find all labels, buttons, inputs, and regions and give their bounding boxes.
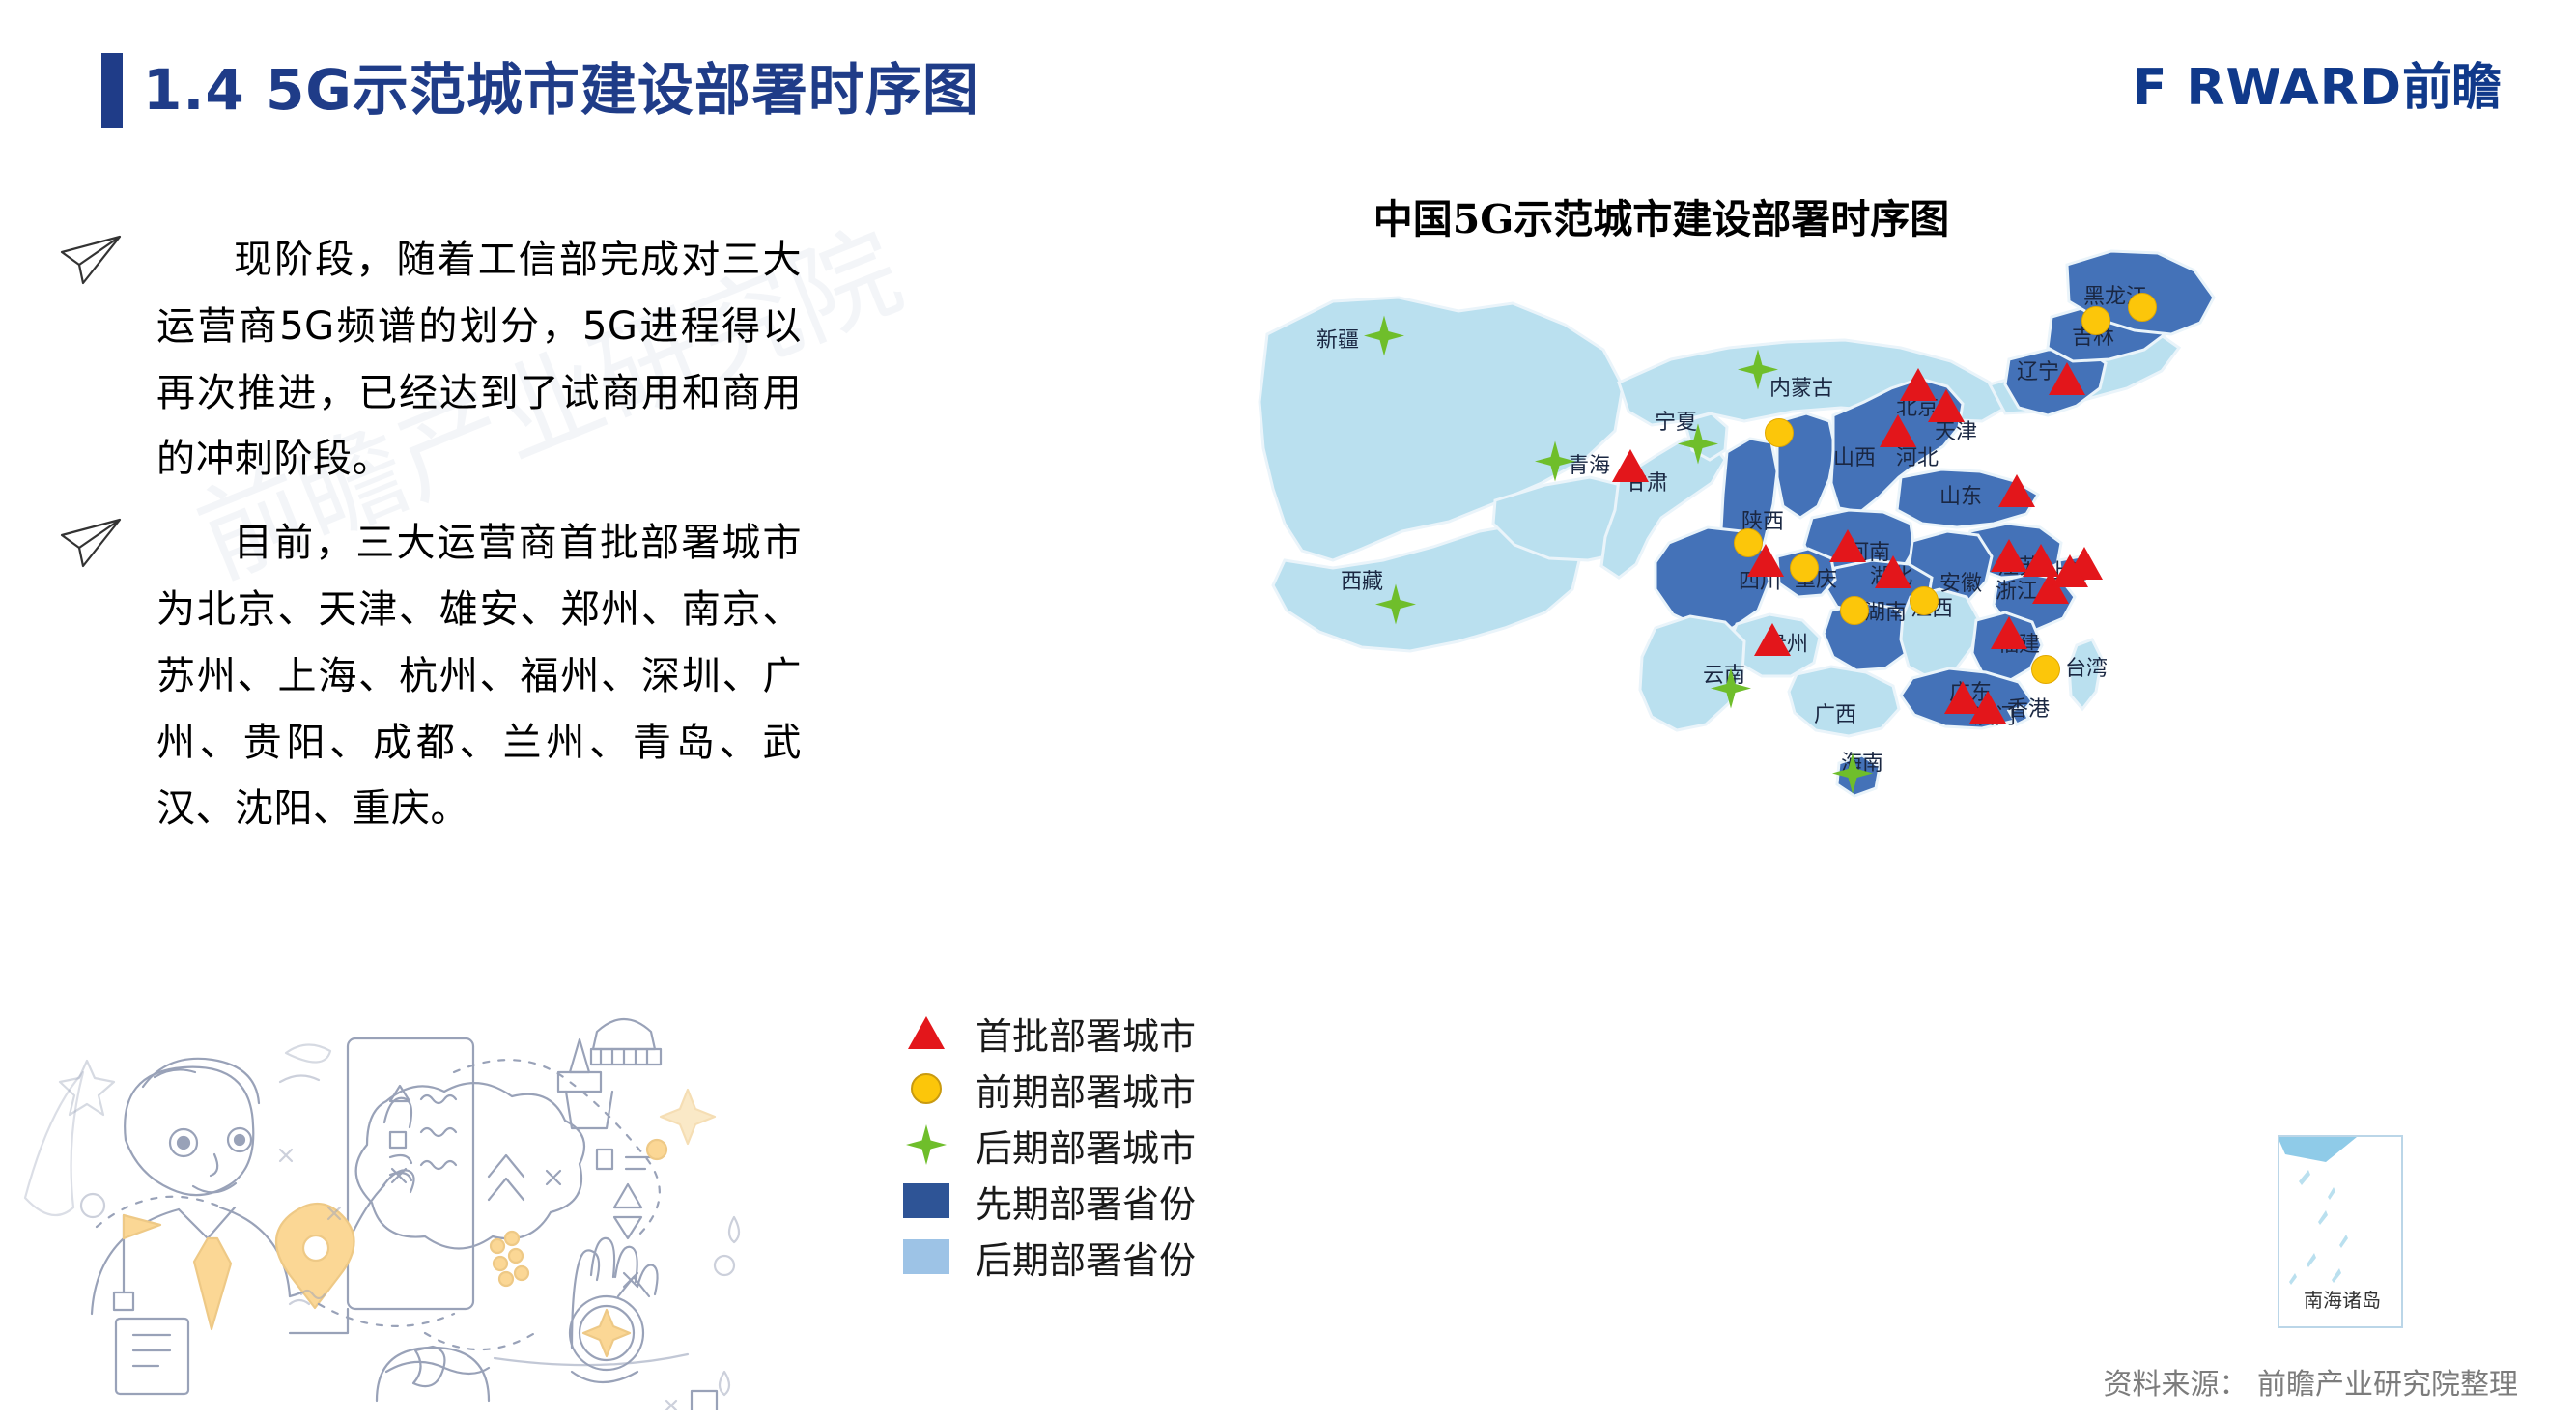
paragraph-text-2: 目前，三大运营商首批部署城市为北京、天津、雄安、郑州、南京、苏州、上海、杭州、福… (156, 510, 802, 842)
paper-plane-icon (58, 233, 126, 291)
first-batch-city-marker (1754, 623, 1791, 656)
inset-label: 南海诸岛 (2279, 1285, 2405, 1313)
first-batch-city-marker (1928, 389, 1965, 422)
first-batch-city-marker (2052, 554, 2088, 587)
first-batch-city-marker (1612, 449, 1649, 482)
late-city-marker (1831, 753, 1874, 800)
late-city-marker (1737, 349, 1779, 396)
early-city-marker (2031, 655, 2060, 684)
circle-marker-icon (898, 1073, 954, 1104)
legend-label: 先期部署省份 (976, 1175, 1196, 1228)
south-sea-islands-inset: 南海诸岛 (2278, 1135, 2403, 1328)
paper-plane-icon (58, 516, 126, 574)
early-province-swatch (898, 1183, 954, 1218)
slide-header: 1.4 5G示范城市建设部署时序图 F RWARD前瞻 (0, 0, 2576, 145)
early-city-marker (1790, 554, 1819, 582)
left-text-column: 现阶段，随着工信部完成对三大运营商5G频谱的划分，5G进程得以再次推进，已经达到… (39, 227, 802, 860)
star-marker-icon (898, 1123, 954, 1166)
early-city-marker (1840, 596, 1869, 625)
first-batch-city-marker (1829, 529, 1866, 562)
title-accent-bar (101, 53, 123, 128)
late-city-marker (1363, 315, 1405, 362)
late-province-swatch (898, 1239, 954, 1274)
early-city-marker (1765, 418, 1794, 447)
first-batch-city-marker (1998, 474, 2035, 507)
early-city-marker (1910, 586, 1939, 615)
map-legend: 首批部署城市 前期部署城市 后期部署城市 先期部署省份 后期部署省份 (898, 1005, 1196, 1285)
first-batch-city-marker (1969, 691, 2006, 724)
legend-item: 首批部署城市 (898, 1005, 1196, 1061)
late-city-marker (1534, 440, 1576, 488)
source-note: 资料来源： 前瞻产业研究院整理 (2103, 1360, 2518, 1403)
first-batch-city-marker (1875, 555, 1911, 588)
legend-label: 后期部署省份 (976, 1231, 1196, 1284)
early-city-marker (2081, 306, 2110, 335)
legend-item: 先期部署省份 (898, 1173, 1196, 1229)
legend-item: 前期部署城市 (898, 1061, 1196, 1117)
paragraph-text-1: 现阶段，随着工信部完成对三大运营商5G频谱的划分，5G进程得以再次推进，已经达到… (156, 227, 802, 493)
late-city-marker (1677, 423, 1719, 470)
legend-label: 前期部署城市 (976, 1063, 1196, 1116)
first-batch-city-marker (1880, 414, 1916, 447)
decorative-illustration (0, 985, 773, 1410)
first-batch-city-marker (1747, 544, 1784, 577)
early-city-marker (2128, 293, 2157, 322)
chart-title: 中国5G示范城市建设部署时序图 (1323, 186, 1999, 244)
brand-logo: F RWARD前瞻 (2133, 46, 2501, 119)
legend-label: 首批部署城市 (976, 1007, 1196, 1060)
triangle-marker-icon (898, 1016, 954, 1049)
late-city-marker (1710, 667, 1752, 715)
legend-label: 后期部署城市 (976, 1119, 1196, 1172)
slide-page: 1.4 5G示范城市建设部署时序图 F RWARD前瞻 前瞻产业研究院 现阶段，… (0, 0, 2576, 1420)
page-title: 1.4 5G示范城市建设部署时序图 (143, 44, 979, 126)
first-batch-city-marker (1991, 616, 2027, 649)
brand-logo-en: F RWARD (2133, 59, 2402, 117)
legend-item: 后期部署城市 (898, 1117, 1196, 1173)
first-batch-city-marker (2049, 362, 2085, 395)
legend-item: 后期部署省份 (898, 1229, 1196, 1285)
late-city-marker (1374, 583, 1417, 631)
paragraph-block: 现阶段，随着工信部完成对三大运营商5G频谱的划分，5G进程得以再次推进，已经达到… (39, 227, 802, 493)
brand-logo-cn: 前瞻 (2402, 59, 2501, 117)
paragraph-block: 目前，三大运营商首批部署城市为北京、天津、雄安、郑州、南京、苏州、上海、杭州、福… (39, 510, 802, 842)
